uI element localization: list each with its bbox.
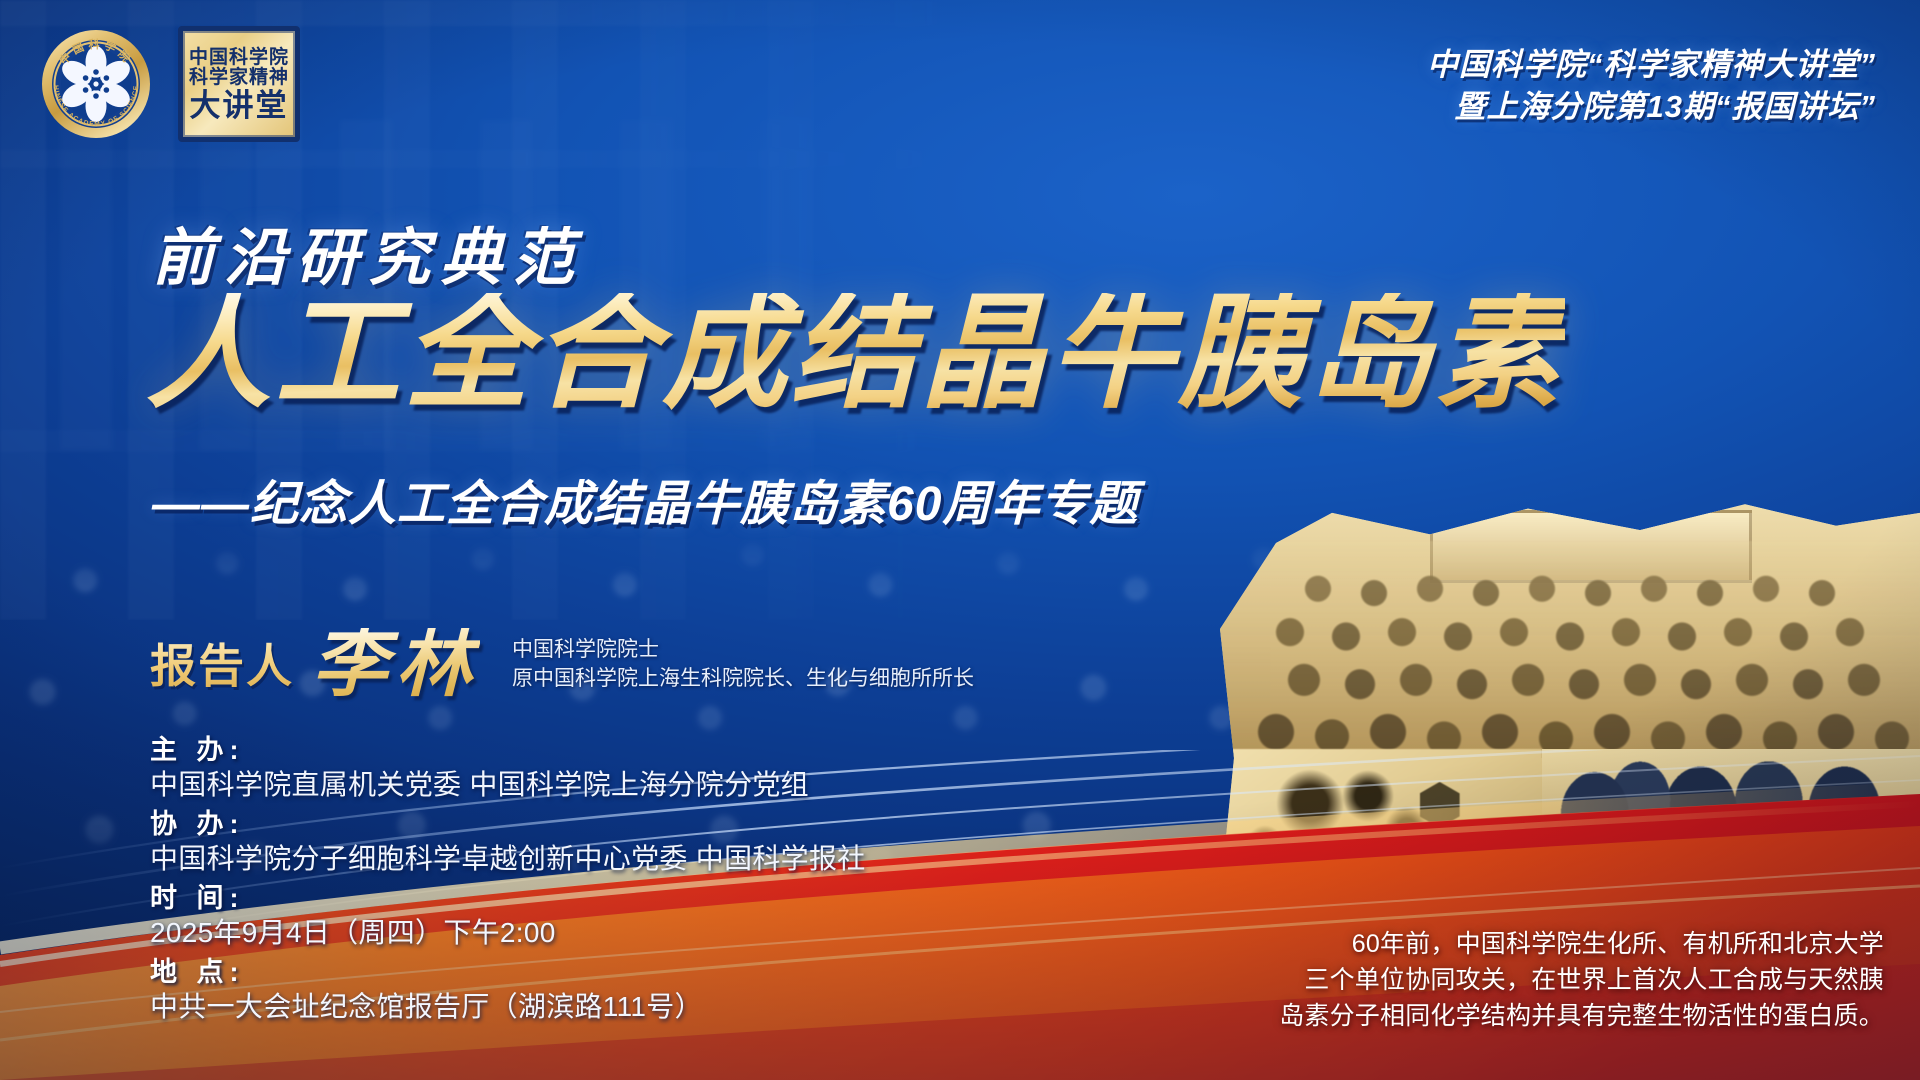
detail-value-venue: 中共一大会址纪念馆报告厅（湖滨路111号） bbox=[150, 989, 1170, 1025]
page-title: 人工全合成结晶牛胰岛素 bbox=[146, 293, 1565, 418]
event-series-line-2: 暨上海分院第13期“报国讲坛” bbox=[1427, 86, 1876, 128]
logo-group: 中国科学院 CHINESE ACADEMY OF SCIENCES 中国科学院 … bbox=[40, 26, 300, 142]
detail-label-venue: 地 点: bbox=[150, 956, 1170, 989]
title-eyebrow: 前沿研究典范 bbox=[152, 207, 584, 297]
detail-label-organizer: 主 办: bbox=[150, 734, 1170, 767]
detail-row-organizer: 主 办: 中国科学院直属机关党委 中国科学院上海分院分党组 bbox=[150, 734, 1170, 804]
speaker-credential-1: 中国科学院院士 bbox=[512, 635, 974, 665]
detail-value-coorganizer: 中国科学院分子细胞科学卓越创新中心党委 中国科学报社 bbox=[150, 841, 1170, 877]
caption-line-2: 三个单位协同攻关，在世界上首次人工合成与天然胰 bbox=[1224, 962, 1884, 998]
group-photo bbox=[1220, 500, 1920, 758]
speaker-credentials: 中国科学院院士 原中国科学院上海生科院院长、生化与细胞所所长 bbox=[512, 635, 974, 701]
detail-row-coorganizer: 协 办: 中国科学院分子细胞科学卓越创新中心党委 中国科学报社 bbox=[150, 808, 1170, 878]
detail-value-organizer: 中国科学院直属机关党委 中国科学院上海分院分党组 bbox=[150, 767, 1170, 803]
caption-line-3: 岛素分子相同化学结构并具有完整生物活性的蛋白质。 bbox=[1224, 998, 1884, 1034]
event-series-line-1: 中国科学院“科学家精神大讲堂” bbox=[1427, 44, 1876, 86]
seal-line-2: 科学家精神 bbox=[189, 68, 289, 87]
photo-caption: 60年前，中国科学院生化所、有机所和北京大学 三个单位协同攻关，在世界上首次人工… bbox=[1224, 926, 1884, 1034]
speaker-block: 报告人 李林 中国科学院院士 原中国科学院上海生科院院长、生化与细胞所所长 bbox=[150, 628, 974, 700]
speaker-label: 报告人 bbox=[150, 630, 294, 700]
event-details: 主 办: 中国科学院直属机关党委 中国科学院上海分院分党组 协 办: 中国科学院… bbox=[150, 730, 1170, 1027]
poster-canvas: 中国科学院 CHINESE ACADEMY OF SCIENCES 中国科学院 … bbox=[0, 0, 1920, 1080]
detail-value-time: 2025年9月4日（周四）下午2:00 bbox=[150, 915, 1170, 951]
detail-row-time: 时 间: 2025年9月4日（周四）下午2:00 bbox=[150, 882, 1170, 952]
detail-row-venue: 地 点: 中共一大会址纪念馆报告厅（湖滨路111号） bbox=[150, 956, 1170, 1026]
speaker-name: 李林 bbox=[312, 628, 480, 700]
detail-label-time: 时 间: bbox=[150, 882, 1170, 915]
title-subtitle: ——纪念人工全合成结晶牛胰岛素60周年专题 bbox=[152, 464, 1138, 534]
seal-line-1: 中国科学院 bbox=[189, 48, 289, 67]
event-series-heading: 中国科学院“科学家精神大讲堂” 暨上海分院第13期“报国讲坛” bbox=[1427, 44, 1876, 128]
seal-stamp-icon: 中国科学院 科学家精神 大讲堂 bbox=[178, 26, 300, 142]
caption-line-1: 60年前，中国科学院生化所、有机所和北京大学 bbox=[1224, 926, 1884, 962]
detail-label-coorganizer: 协 办: bbox=[150, 808, 1170, 841]
cas-emblem-icon: 中国科学院 CHINESE ACADEMY OF SCIENCES bbox=[40, 28, 152, 140]
speaker-credential-2: 原中国科学院上海生科院院长、生化与细胞所所长 bbox=[512, 664, 974, 694]
seal-line-3: 大讲堂 bbox=[190, 90, 289, 121]
